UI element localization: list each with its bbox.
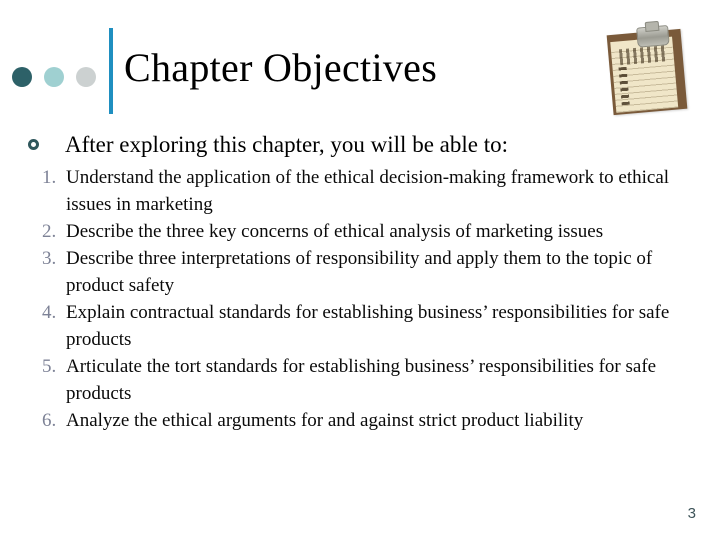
list-item-label: Describe the three key concerns of ethic… <box>66 218 686 245</box>
list-item: 4. Explain contractual standards for est… <box>42 299 686 353</box>
lead-in-text: After exploring this chapter, you will b… <box>65 130 508 160</box>
list-item-label: Explain contractual standards for establ… <box>66 299 686 353</box>
list-item: 2. Describe the three key concerns of et… <box>42 218 686 245</box>
page-number: 3 <box>688 505 696 523</box>
dot-light-teal-icon <box>44 67 64 87</box>
list-item: 1. Understand the application of the eth… <box>42 164 686 218</box>
clipboard-clip-tab-icon <box>645 21 660 32</box>
list-item: 6. Analyze the ethical arguments for and… <box>42 407 686 434</box>
list-item-number: 3. <box>42 245 66 272</box>
list-item-number: 1. <box>42 164 66 191</box>
decorative-dots <box>12 67 96 87</box>
title-divider-rule <box>109 28 113 114</box>
objectives-list: 1. Understand the application of the eth… <box>42 164 686 434</box>
clipboard-image <box>604 28 696 116</box>
dot-gray-icon <box>76 67 96 87</box>
list-item: 5. Articulate the tort standards for est… <box>42 353 686 407</box>
hollow-circle-bullet-icon <box>28 139 39 150</box>
dot-dark-teal-icon <box>12 67 32 87</box>
list-item-label: Describe three interpretations of respon… <box>66 245 686 299</box>
list-item-number: 2. <box>42 218 66 245</box>
list-item-number: 4. <box>42 299 66 326</box>
list-item-label: Analyze the ethical arguments for and ag… <box>66 407 686 434</box>
clipboard-board <box>607 29 688 115</box>
slide-canvas: Chapter Objectives After exploring this … <box>0 0 720 540</box>
list-item-number: 5. <box>42 353 66 380</box>
lead-in-row: After exploring this chapter, you will b… <box>28 130 508 160</box>
list-item-number: 6. <box>42 407 66 434</box>
list-item: 3. Describe three interpretations of res… <box>42 245 686 299</box>
clipboard-paper <box>610 37 678 113</box>
list-item-label: Articulate the tort standards for establ… <box>66 353 686 407</box>
page-title: Chapter Objectives <box>124 44 437 92</box>
list-item-label: Understand the application of the ethica… <box>66 164 686 218</box>
